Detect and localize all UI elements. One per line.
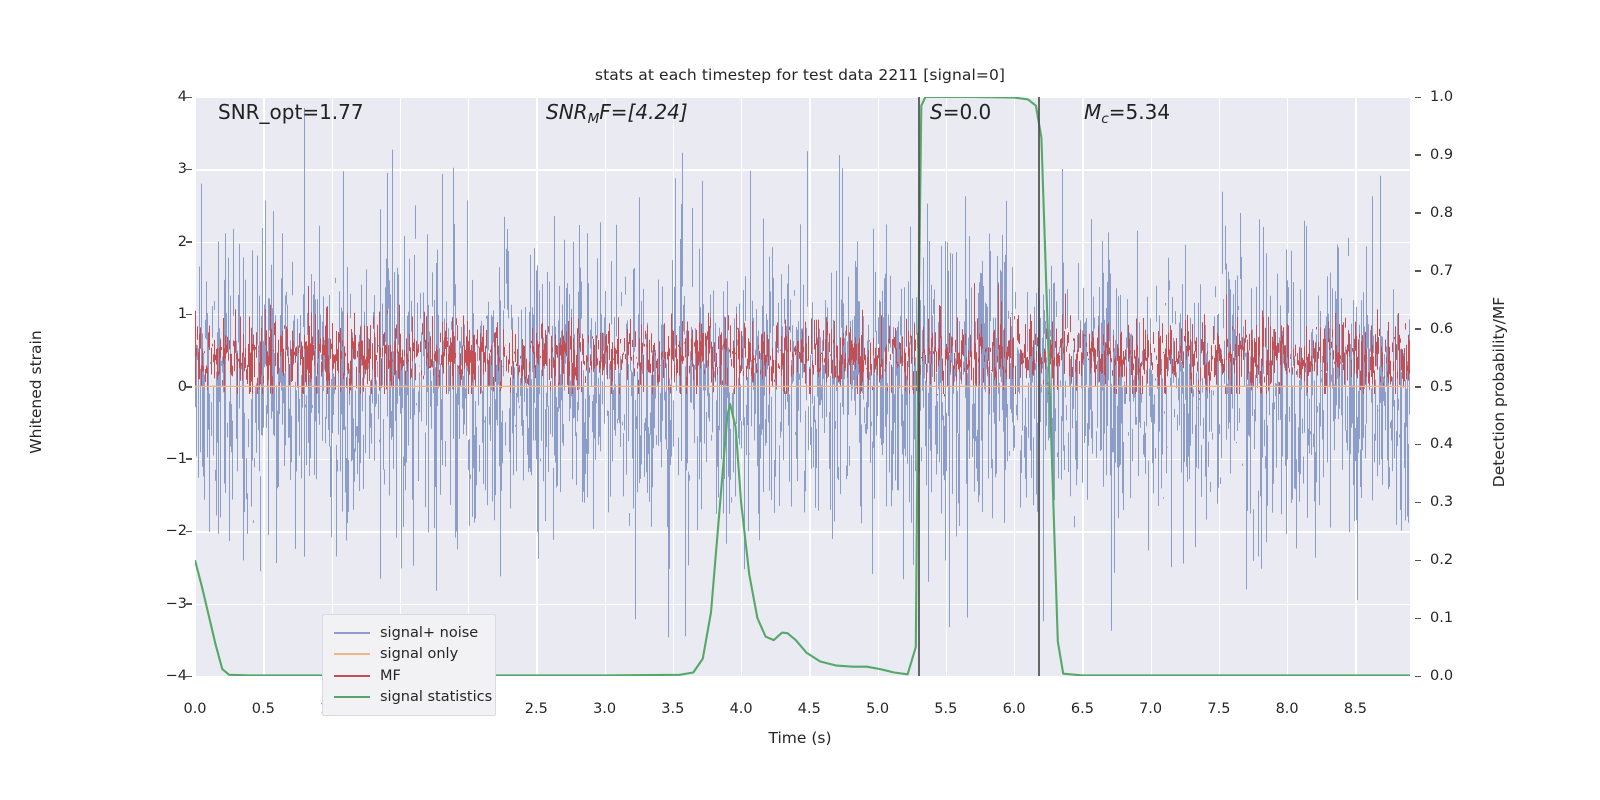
legend-label: signal+ noise [380,625,478,641]
y-tick-mark-right [1415,444,1421,446]
y-tick-label-left: −2 [166,523,187,539]
legend-swatch [334,675,370,677]
detection-marker-0 [918,97,920,676]
y-tick-label-right: 0.7 [1430,263,1453,279]
legend-item-3[interactable]: signal statistics [323,687,495,709]
legend-label: signal statistics [380,689,492,705]
x-tick-label: 7.0 [1139,701,1162,717]
annotation-mchirp: Mc=5.34 [1084,100,1170,127]
y-axis-label-left-text: Whitened strain [27,282,45,502]
x-tick-label: 5.0 [866,701,889,717]
y-tick-label-right: 0.2 [1430,552,1453,568]
y-tick-label-left: −1 [166,451,187,467]
x-tick-label: 8.5 [1344,701,1367,717]
mf-trace [196,283,1410,396]
x-tick-label: 8.0 [1276,701,1299,717]
figure-canvas: stats at each timestep for test data 221… [0,0,1600,800]
x-tick-label: 4.5 [798,701,821,717]
legend-item-2[interactable]: MF [323,665,495,687]
x-tick-label: 5.5 [934,701,957,717]
figure-title: stats at each timestep for test data 221… [0,66,1600,84]
data-layer [195,97,1410,676]
x-tick-label: 0.5 [252,701,275,717]
y-tick-mark-left [186,169,192,171]
annotation-snr-mf: SNRMF=[4.24] [546,100,688,127]
y-tick-label-right: 0.3 [1430,494,1453,510]
y-tick-mark-left [186,603,192,605]
y-tick-label-left: −4 [166,668,187,684]
y-tick-mark-left [186,241,192,243]
x-tick-label: 3.0 [593,701,616,717]
y-tick-mark-left [186,97,192,99]
legend-label: MF [380,668,401,684]
y-tick-label-right: 0.1 [1430,610,1453,626]
y-tick-mark-right [1415,270,1421,272]
y-tick-label-left: −3 [166,596,187,612]
x-tick-label: 3.5 [661,701,684,717]
x-axis-label: Time (s) [0,729,1600,747]
y-tick-label-right: 0.0 [1430,668,1453,684]
y-tick-mark-right [1415,386,1421,388]
x-tick-label: 2.5 [525,701,548,717]
y-tick-mark-right [1415,502,1421,504]
legend-box[interactable]: signal+ noisesignal onlyMFsignal statist… [322,614,496,716]
y-axis-label-right-text: Detection probability/MF [1490,282,1508,502]
series-signal-plus-noise [196,108,1410,638]
x-tick-label: 0.0 [183,701,206,717]
legend-items: signal+ noisesignal onlyMFsignal statist… [323,622,495,708]
y-tick-mark-left [186,458,192,460]
y-tick-mark-left [186,531,192,533]
annotation-s-value: S=0.0 [930,100,991,124]
y-tick-mark-right [1415,560,1421,562]
y-tick-label-right: 0.8 [1430,205,1453,221]
y-tick-label-right: 0.4 [1430,436,1453,452]
y-tick-mark-left [186,314,192,316]
noise-trace [196,108,1410,638]
y-tick-mark-right [1415,618,1421,620]
y-tick-mark-right [1415,328,1421,330]
y-tick-label-right: 0.9 [1430,147,1453,163]
y-tick-mark-right [1415,676,1421,678]
y-tick-mark-right [1415,97,1421,99]
series-mf [196,283,1410,396]
y-tick-label-right: 0.5 [1430,379,1453,395]
y-tick-mark-right [1415,154,1421,156]
legend-item-1[interactable]: signal only [323,644,495,666]
y-tick-mark-right [1415,212,1421,214]
legend-swatch [334,653,370,655]
legend-swatch [334,632,370,634]
x-tick-label: 4.0 [730,701,753,717]
x-tick-label: 6.0 [1003,701,1026,717]
x-tick-label: 6.5 [1071,701,1094,717]
y-tick-mark-left [186,676,192,678]
y-tick-mark-left [186,386,192,388]
legend-label: signal only [380,646,458,662]
plot-area [195,97,1410,676]
annotation-snr-opt: SNR_opt=1.77 [218,100,364,124]
y-tick-label-right: 1.0 [1430,89,1453,105]
legend-item-0[interactable]: signal+ noise [323,622,495,644]
detection-marker-1 [1038,97,1040,676]
legend-swatch [334,696,370,698]
y-tick-label-right: 0.6 [1430,321,1453,337]
x-tick-label: 7.5 [1207,701,1230,717]
